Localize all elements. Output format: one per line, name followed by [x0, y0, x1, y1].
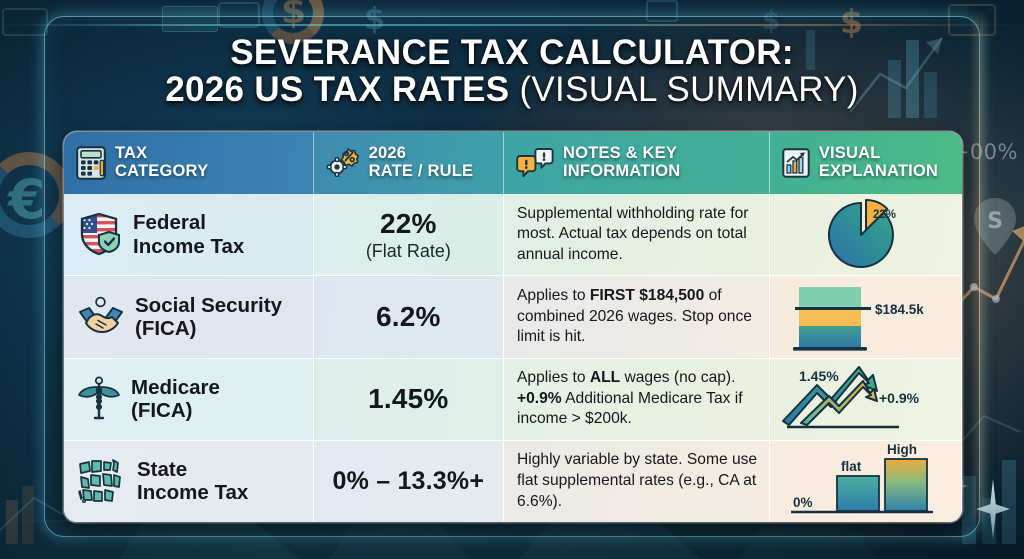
- category-line-1: Social Security: [135, 294, 282, 317]
- header-line-2: EXPLANATION: [819, 163, 938, 181]
- table-row: Social Security (FICA) 6.2% Applies to F…: [64, 276, 962, 358]
- header-line-1: 2026: [369, 145, 474, 163]
- category-line-2: Income Tax: [133, 235, 244, 258]
- category-line-2: (FICA): [135, 317, 282, 340]
- arrow-label-secondary: +0.9%: [879, 390, 920, 406]
- table-header-row: TAX CATEGORY: [64, 132, 962, 194]
- us-flag-shield-icon: [78, 212, 122, 258]
- row-category-federal[interactable]: Federal Income Tax: [64, 194, 314, 275]
- row-rate-federal[interactable]: 22% (Flat Rate): [314, 194, 504, 275]
- note-fragment: Applies to: [517, 287, 590, 304]
- note-fragment: Highly variable by state. Some use flat …: [517, 451, 757, 509]
- row-rate-social-security[interactable]: 6.2%: [314, 276, 504, 357]
- note-text: Highly variable by state. Some use flat …: [517, 450, 758, 512]
- table-header-label: VISUAL EXPLANATION: [819, 145, 938, 181]
- note-emphasis: ALL: [590, 369, 620, 386]
- row-visual-federal[interactable]: 22%: [770, 194, 962, 275]
- title-line-2-bold: 2026 US TAX RATES: [165, 70, 519, 109]
- category-line-1: Medicare: [131, 376, 220, 399]
- rate-value: 6.2%: [376, 301, 441, 333]
- row-rate-state[interactable]: 0% – 13.3%+: [314, 441, 504, 522]
- caduceus-icon: [78, 376, 120, 422]
- handshake-icon: [78, 295, 124, 339]
- row-visual-social-security[interactable]: $184.5k: [770, 276, 962, 357]
- title-line-1: SEVERANCE TAX CALCULATOR:: [0, 34, 1024, 71]
- table-header-notes[interactable]: NOTES & KEY INFORMATION: [504, 132, 770, 194]
- category-label: State Income Tax: [137, 458, 248, 505]
- row-rate-medicare[interactable]: 1.45%: [314, 359, 504, 440]
- header-line-1: TAX: [115, 145, 208, 163]
- bar-chart-state-range: 0% flat High: [775, 441, 955, 521]
- rate-sublabel: (Flat Rate): [366, 241, 451, 262]
- category-line-1: Federal: [133, 211, 244, 234]
- header-line-2: RATE / RULE: [369, 163, 474, 181]
- bar-label-flat: flat: [841, 459, 862, 474]
- table-header-visual[interactable]: VISUAL EXPLANATION: [770, 132, 962, 194]
- pie-chart-22-percent: 22%: [805, 198, 925, 272]
- row-notes-medicare[interactable]: Applies to ALL wages (no cap). +0.9% Add…: [504, 359, 770, 440]
- rate-value: 0% – 13.3%+: [333, 467, 485, 496]
- table-row: Medicare (FICA) 1.45% Applies to ALL wag…: [64, 359, 962, 441]
- note-emphasis: +0.9%: [517, 390, 562, 407]
- rate-value: 22%: [380, 208, 437, 240]
- row-visual-medicare[interactable]: 1.45% +0.9%: [770, 359, 962, 440]
- stacked-bar-wage-cap: $184.5k: [775, 281, 955, 353]
- table-header-label: NOTES & KEY INFORMATION: [563, 145, 680, 181]
- category-label: Social Security (FICA): [135, 294, 282, 341]
- page-title: SEVERANCE TAX CALCULATOR: 2026 US TAX RA…: [0, 34, 1024, 109]
- us-states-map-icon: [78, 458, 126, 504]
- table-header-tax-category[interactable]: TAX CATEGORY: [64, 132, 314, 194]
- note-fragment: Supplemental withholding rate for most. …: [517, 205, 748, 263]
- calculator-icon: [76, 146, 106, 180]
- row-notes-federal[interactable]: Supplemental withholding rate for most. …: [504, 194, 770, 275]
- table-row: State Income Tax 0% – 13.3%+ Highly vari…: [64, 441, 962, 522]
- pie-slice-label: 22%: [873, 209, 896, 221]
- table-header-label: 2026 RATE / RULE: [369, 145, 474, 181]
- note-emphasis: FIRST $184,500: [590, 287, 704, 304]
- row-notes-social-security[interactable]: Applies to FIRST $184,500 of combined 20…: [504, 276, 770, 357]
- header-line-1: VISUAL: [819, 145, 938, 163]
- arrow-label-primary: 1.45%: [799, 368, 839, 384]
- row-visual-state[interactable]: 0% flat High: [770, 441, 962, 522]
- note-fragment: Applies to: [517, 369, 590, 386]
- header-line-1: NOTES & KEY: [563, 145, 680, 163]
- header-line-2: INFORMATION: [563, 163, 680, 181]
- category-line-2: Income Tax: [137, 481, 248, 504]
- bar-label-zero: 0%: [793, 495, 813, 510]
- row-category-social-security[interactable]: Social Security (FICA): [64, 276, 314, 357]
- gear-percent-icon: [326, 147, 360, 179]
- speech-bubble-alert-icon: [516, 147, 554, 179]
- growth-arrows-medicare: 1.45% +0.9%: [773, 361, 958, 437]
- note-text: Supplemental withholding rate for most. …: [517, 204, 758, 266]
- title-line-2: 2026 US TAX RATES (VISUAL SUMMARY): [0, 71, 1024, 108]
- table-header-label: TAX CATEGORY: [115, 145, 208, 181]
- note-fragment: wages (no cap).: [620, 369, 735, 386]
- title-line-2-light: (VISUAL SUMMARY): [519, 70, 858, 109]
- rate-value: 1.45%: [368, 383, 448, 415]
- table-row: Federal Income Tax 22% (Flat Rate) Suppl…: [64, 194, 962, 276]
- page-content: SEVERANCE TAX CALCULATOR: 2026 US TAX RA…: [0, 0, 1024, 559]
- category-label: Medicare (FICA): [131, 376, 220, 423]
- row-category-medicare[interactable]: Medicare (FICA): [64, 359, 314, 440]
- note-text: Applies to ALL wages (no cap). +0.9% Add…: [517, 368, 758, 430]
- bar-label-high: High: [887, 442, 917, 457]
- tax-summary-table: TAX CATEGORY: [64, 132, 962, 522]
- row-category-state[interactable]: State Income Tax: [64, 441, 314, 522]
- chart-growth-icon: [782, 148, 810, 178]
- row-notes-state[interactable]: Highly variable by state. Some use flat …: [504, 441, 770, 522]
- category-label: Federal Income Tax: [133, 211, 244, 258]
- note-text: Applies to FIRST $184,500 of combined 20…: [517, 286, 758, 348]
- header-line-2: CATEGORY: [115, 163, 208, 181]
- category-line-2: (FICA): [131, 399, 220, 422]
- table-header-rate-rule[interactable]: 2026 RATE / RULE: [314, 132, 504, 194]
- category-line-1: State: [137, 458, 248, 481]
- stacked-bar-label: $184.5k: [875, 302, 924, 317]
